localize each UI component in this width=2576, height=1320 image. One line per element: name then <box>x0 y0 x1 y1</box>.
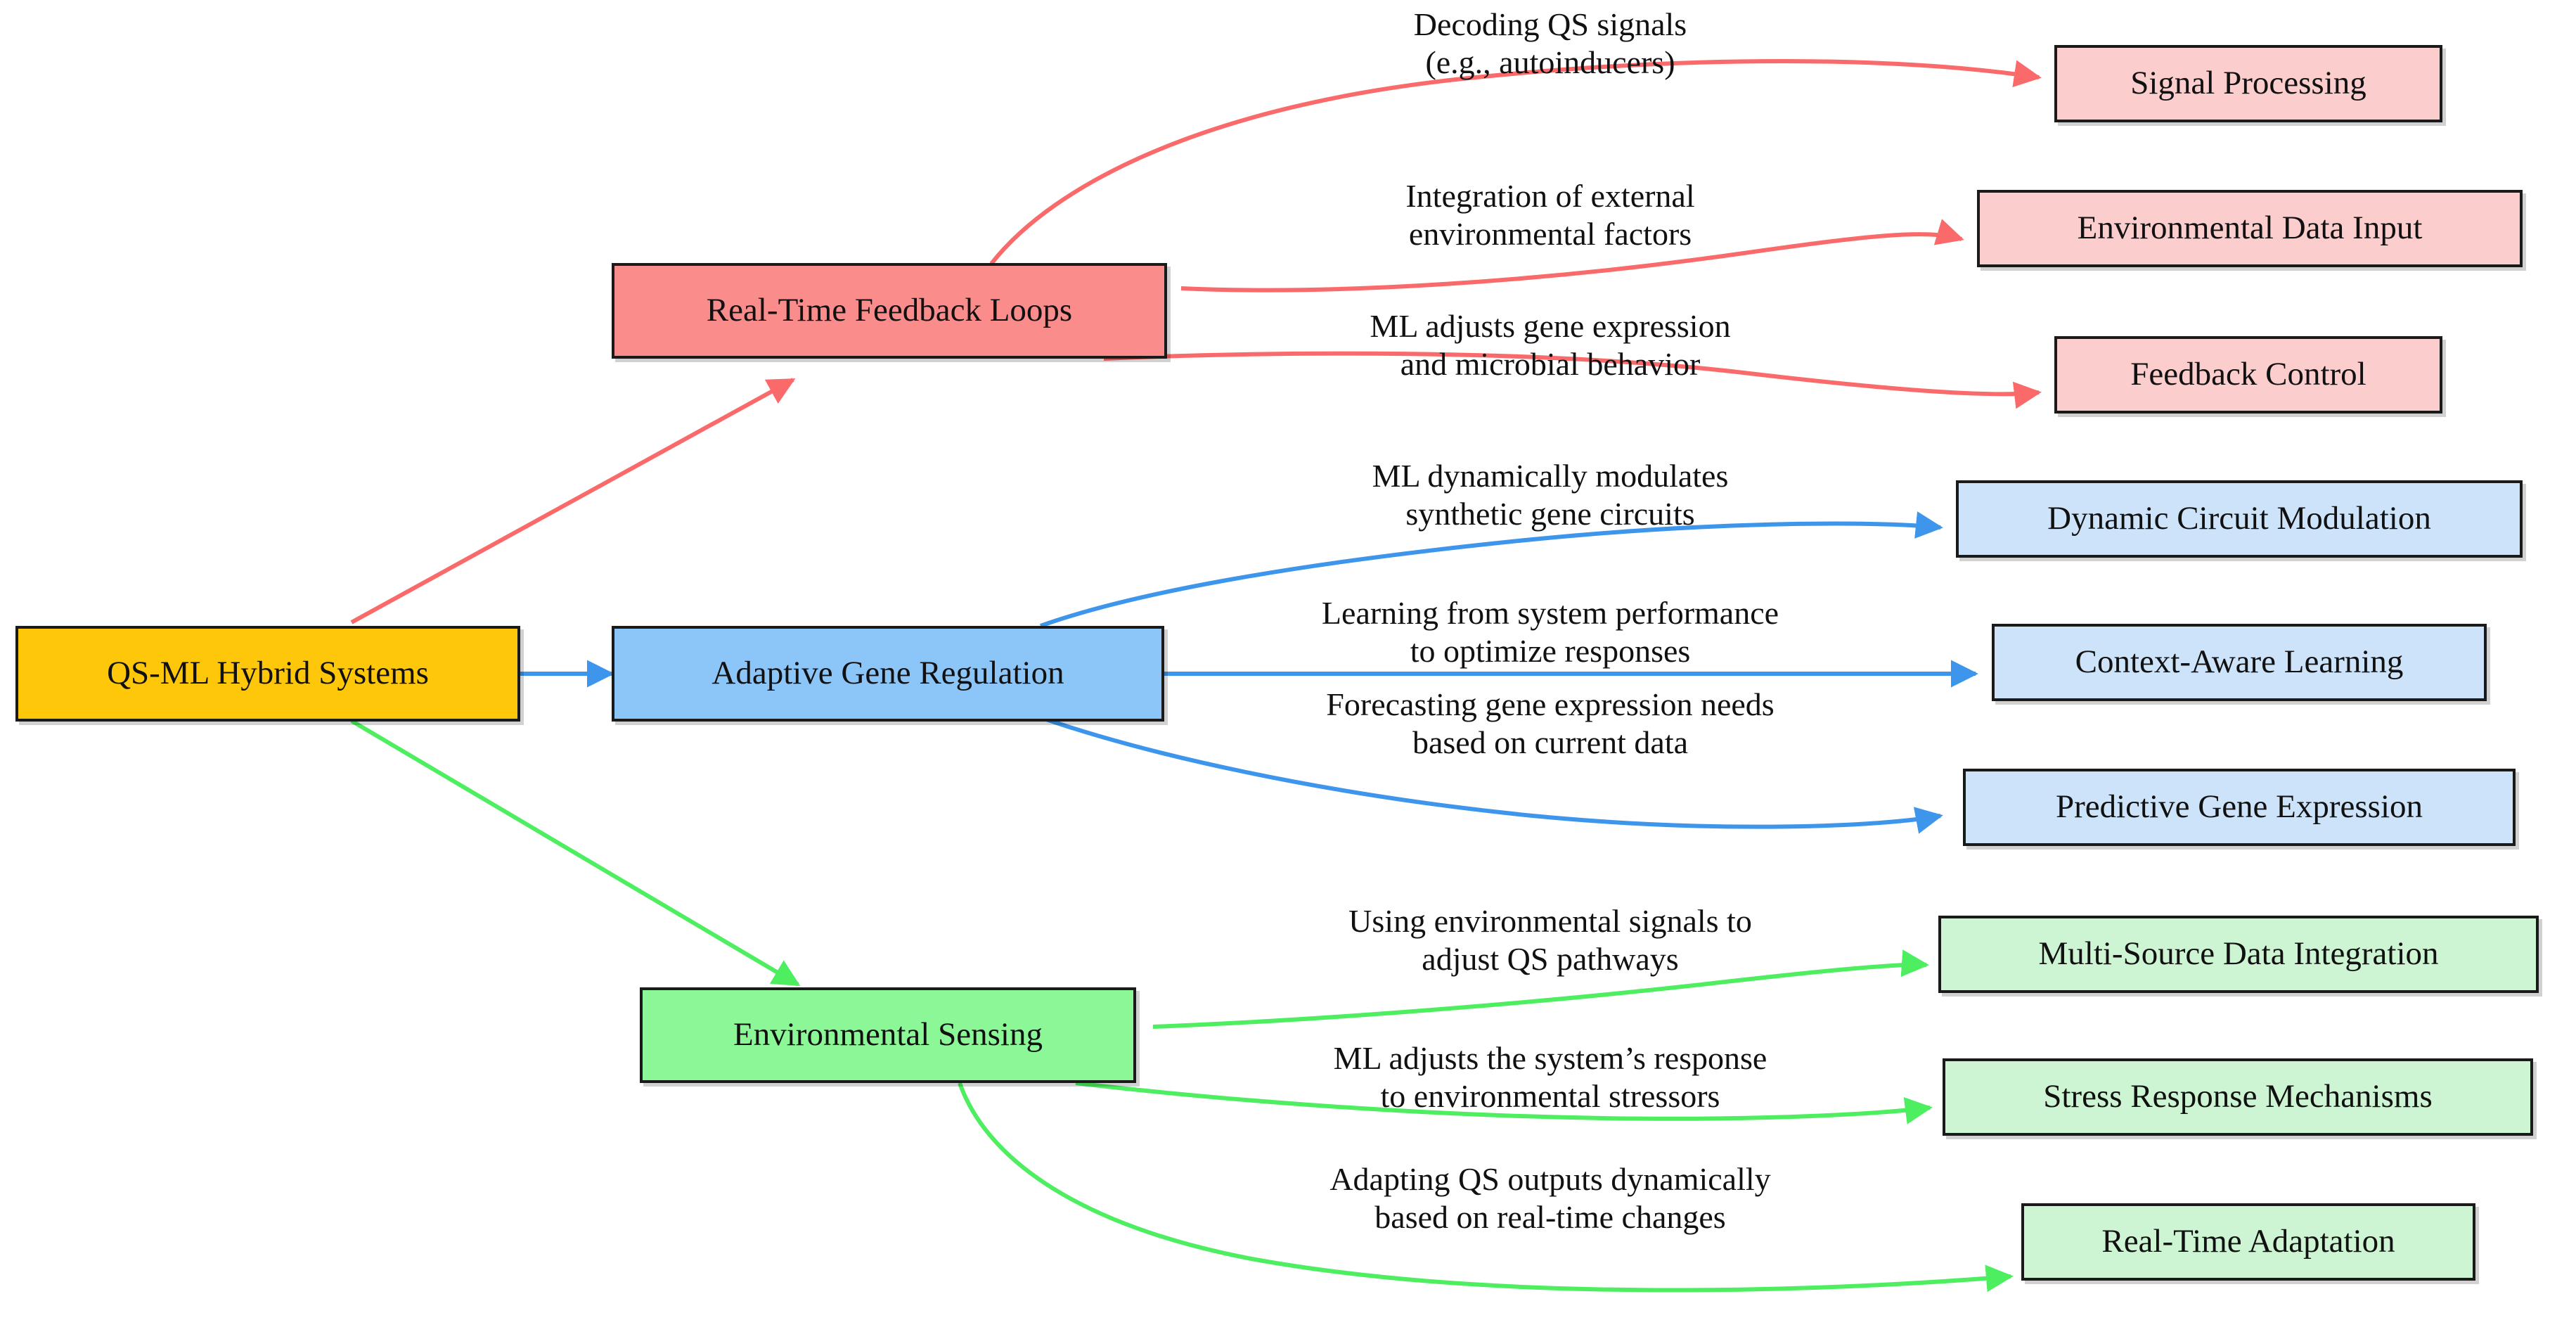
node-context-aware-learning-label: Context-Aware Learning <box>2063 645 2416 679</box>
edge-label-using-environmental-signals: Using environmental signals to adjust QS… <box>1348 902 1752 979</box>
node-multi-source-data-integration-label: Multi-Source Data Integration <box>2026 937 2451 971</box>
node-predictive-gene-expression[interactable]: Predictive Gene Expression <box>1963 769 2516 846</box>
edge-label-integration-external: Integration of external environmental fa… <box>1405 177 1694 254</box>
node-real-time-adaptation[interactable]: Real-Time Adaptation <box>2021 1203 2475 1281</box>
mindmap-canvas: QS-ML Hybrid Systems Real-Time Feedback … <box>0 0 2576 1320</box>
node-real-time-feedback-loops-label: Real-Time Feedback Loops <box>694 293 1085 328</box>
edge-root-to-real-time-feedback-loops <box>352 380 793 622</box>
node-root-label: QS-ML Hybrid Systems <box>94 656 442 691</box>
node-adaptive-gene-regulation-label: Adaptive Gene Regulation <box>699 656 1076 691</box>
edge-label-forecasting-gene-expression: Forecasting gene expression needs based … <box>1326 686 1774 762</box>
edge-label-decoding-qs-signals: Decoding QS signals (e.g., autoinducers) <box>1414 6 1687 82</box>
node-environmental-data-input[interactable]: Environmental Data Input <box>1977 190 2523 267</box>
edge-root-to-environmental-sensing <box>352 721 798 985</box>
edge-label-ml-dynamically-modulates: ML dynamically modulates synthetic gene … <box>1372 457 1729 534</box>
edge-label-ml-adjusts-gene-expression: ML adjusts gene expression and microbial… <box>1370 307 1730 384</box>
node-feedback-control[interactable]: Feedback Control <box>2054 336 2442 414</box>
node-dynamic-circuit-modulation-label: Dynamic Circuit Modulation <box>2035 501 2444 536</box>
node-real-time-adaptation-label: Real-Time Adaptation <box>2089 1224 2407 1259</box>
node-context-aware-learning[interactable]: Context-Aware Learning <box>1992 624 2487 701</box>
node-feedback-control-label: Feedback Control <box>2118 357 2378 392</box>
edge-label-adapting-qs-outputs: Adapting QS outputs dynamically based on… <box>1329 1160 1770 1237</box>
node-environmental-sensing[interactable]: Environmental Sensing <box>640 987 1136 1083</box>
edge-label-learning-from-system-performance: Learning from system performance to opti… <box>1322 594 1779 671</box>
node-real-time-feedback-loops[interactable]: Real-Time Feedback Loops <box>612 263 1167 359</box>
node-environmental-data-input-label: Environmental Data Input <box>2065 211 2435 245</box>
node-root[interactable]: QS-ML Hybrid Systems <box>15 626 520 722</box>
node-signal-processing[interactable]: Signal Processing <box>2054 45 2442 122</box>
edge-label-ml-adjusts-system-response: ML adjusts the system’s response to envi… <box>1334 1039 1767 1116</box>
node-signal-processing-label: Signal Processing <box>2118 66 2379 101</box>
node-stress-response-mechanisms-label: Stress Response Mechanisms <box>2030 1079 2445 1114</box>
node-stress-response-mechanisms[interactable]: Stress Response Mechanisms <box>1943 1058 2533 1136</box>
node-dynamic-circuit-modulation[interactable]: Dynamic Circuit Modulation <box>1956 480 2523 558</box>
node-predictive-gene-expression-label: Predictive Gene Expression <box>2043 790 2435 824</box>
node-environmental-sensing-label: Environmental Sensing <box>721 1018 1055 1052</box>
node-multi-source-data-integration[interactable]: Multi-Source Data Integration <box>1938 916 2539 993</box>
node-adaptive-gene-regulation[interactable]: Adaptive Gene Regulation <box>612 626 1164 722</box>
